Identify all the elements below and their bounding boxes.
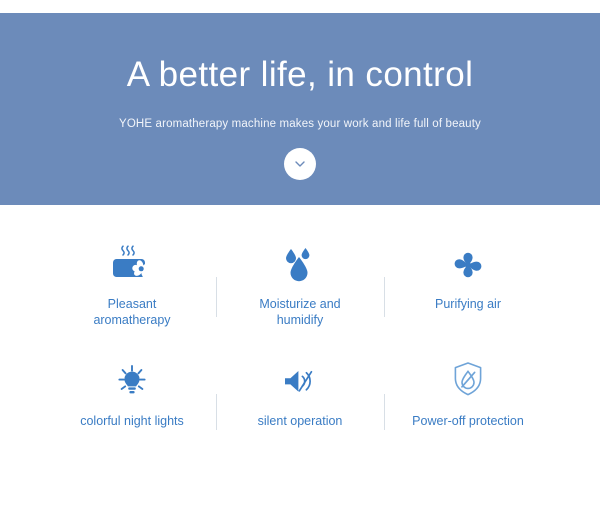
feature-power-off-protection[interactable]: Power-off protection [385,356,552,429]
feature-row-2: colorful night lights silent operation [0,356,600,430]
feature-label: Power-off protection [408,413,528,429]
feature-grid: Pleasant aromatherapy Moisturize and hum… [0,205,600,430]
page-title: A better life, in control [127,57,474,92]
speaker-mute-icon [277,356,323,402]
feature-label: Purifying air [408,296,528,312]
light-bulb-icon [110,356,154,402]
feature-pleasant-aromatherapy[interactable]: Pleasant aromatherapy [49,239,216,328]
feature-label: colorful night lights [57,413,207,429]
feature-row-1: Pleasant aromatherapy Moisturize and hum… [0,239,600,328]
aroma-diffuser-icon [104,239,160,285]
water-droplets-icon [278,239,322,285]
hero-banner: A better life, in control YOHE aromather… [0,13,600,205]
chevron-down-icon [292,156,308,172]
shield-power-off-icon [446,356,490,402]
hero-subtitle: YOHE aromatherapy machine makes your wor… [119,118,481,130]
top-spacer [0,0,600,13]
feature-purifying-air[interactable]: Purifying air [385,239,552,312]
feature-label: silent operation [225,413,375,429]
feature-label: Pleasant aromatherapy [72,296,192,328]
feature-label: Moisturize and humidify [240,296,360,328]
feature-moisturize-and-humidify[interactable]: Moisturize and humidify [217,239,384,328]
scroll-down-button[interactable] [284,148,316,180]
feature-silent-operation[interactable]: silent operation [217,356,384,429]
feature-colorful-night-lights[interactable]: colorful night lights [49,356,216,429]
fan-blades-icon [446,239,490,285]
